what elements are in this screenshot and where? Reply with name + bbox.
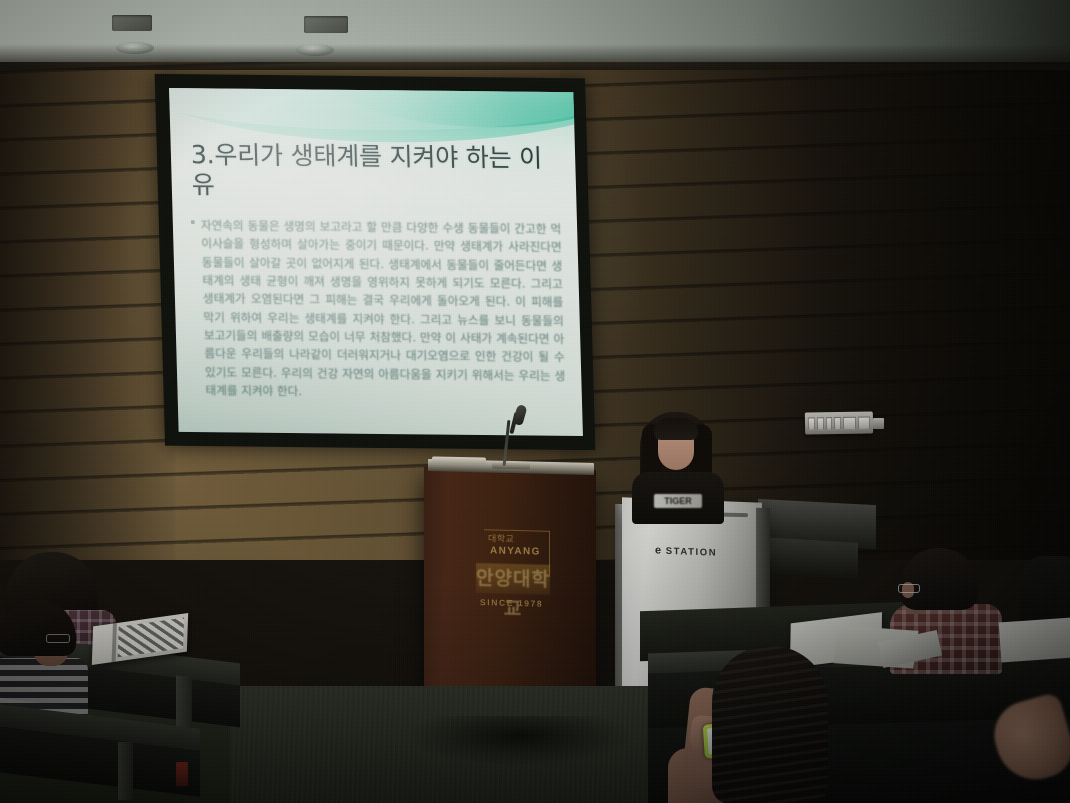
microphone-base <box>492 463 530 470</box>
wall-shadow-left <box>0 40 175 560</box>
slide-body-text: 자연속의 동물은 생명의 보고라고 할 만큼 다양한 수생 동물들이 간고한 먹… <box>201 216 566 403</box>
book-spine <box>112 623 117 662</box>
projected-slide: 3.우리가 생태계를 지켜야 하는 이유 자연속의 동물은 생명의 보고라고 할… <box>169 88 583 436</box>
audience-hair <box>900 548 978 610</box>
book-page-artwork <box>118 618 184 658</box>
ceiling-edge-shadow <box>0 44 1070 70</box>
light-switch[interactable] <box>857 416 870 429</box>
podium-paper-ledge <box>432 456 486 464</box>
audience-hair <box>0 600 76 656</box>
slide-bullet-icon <box>191 220 195 224</box>
paper-sheet <box>999 618 1070 663</box>
wall-light-switch-panel[interactable] <box>805 411 873 434</box>
light-switch[interactable] <box>825 417 832 430</box>
glasses-icon <box>46 634 70 643</box>
desk-leg <box>118 742 133 800</box>
presenter-bangs <box>654 418 698 440</box>
audience-long-hair <box>712 646 828 803</box>
ceiling-vent-icon <box>304 16 348 33</box>
presenter-shirt-print: TIGER <box>654 494 702 508</box>
lecture-hall-photo: 3.우리가 생태계를 지켜야 하는 이유 자연속의 동물은 생명의 보고라고 할… <box>0 0 1070 803</box>
light-switch[interactable] <box>843 416 856 429</box>
slide-title: 3.우리가 생태계를 지켜야 하는 이유 <box>191 140 563 203</box>
estation-label-text: STATION <box>666 545 717 558</box>
podium-university-logo: 대학교 ANYANG 안양대학교 SINCE 1978 <box>462 527 570 616</box>
light-switch[interactable] <box>808 417 815 430</box>
presenter: TIGER <box>626 408 730 520</box>
glasses-icon <box>898 584 920 593</box>
projection-screen: 3.우리가 생태계를 지켜야 하는 이유 자연속의 동물은 생명의 보고라고 할… <box>155 74 596 450</box>
light-switch[interactable] <box>817 417 824 430</box>
audience-phone-center <box>690 640 850 803</box>
wall-outlet-icon <box>873 418 884 429</box>
estation-e-mark: e <box>655 544 663 556</box>
av-shelf-lower <box>762 537 858 579</box>
logo-wordmark: 안양대학교 <box>476 563 550 595</box>
light-switch[interactable] <box>834 416 841 429</box>
logo-english-text: ANYANG <box>490 545 541 557</box>
podium-floor-shadow <box>410 716 630 766</box>
logo-korean-text: 대학교 <box>488 531 514 545</box>
ceiling-vent-icon <box>112 15 152 31</box>
red-object-under-desk <box>176 762 188 786</box>
logo-since-text: SINCE 1978 <box>480 597 543 609</box>
